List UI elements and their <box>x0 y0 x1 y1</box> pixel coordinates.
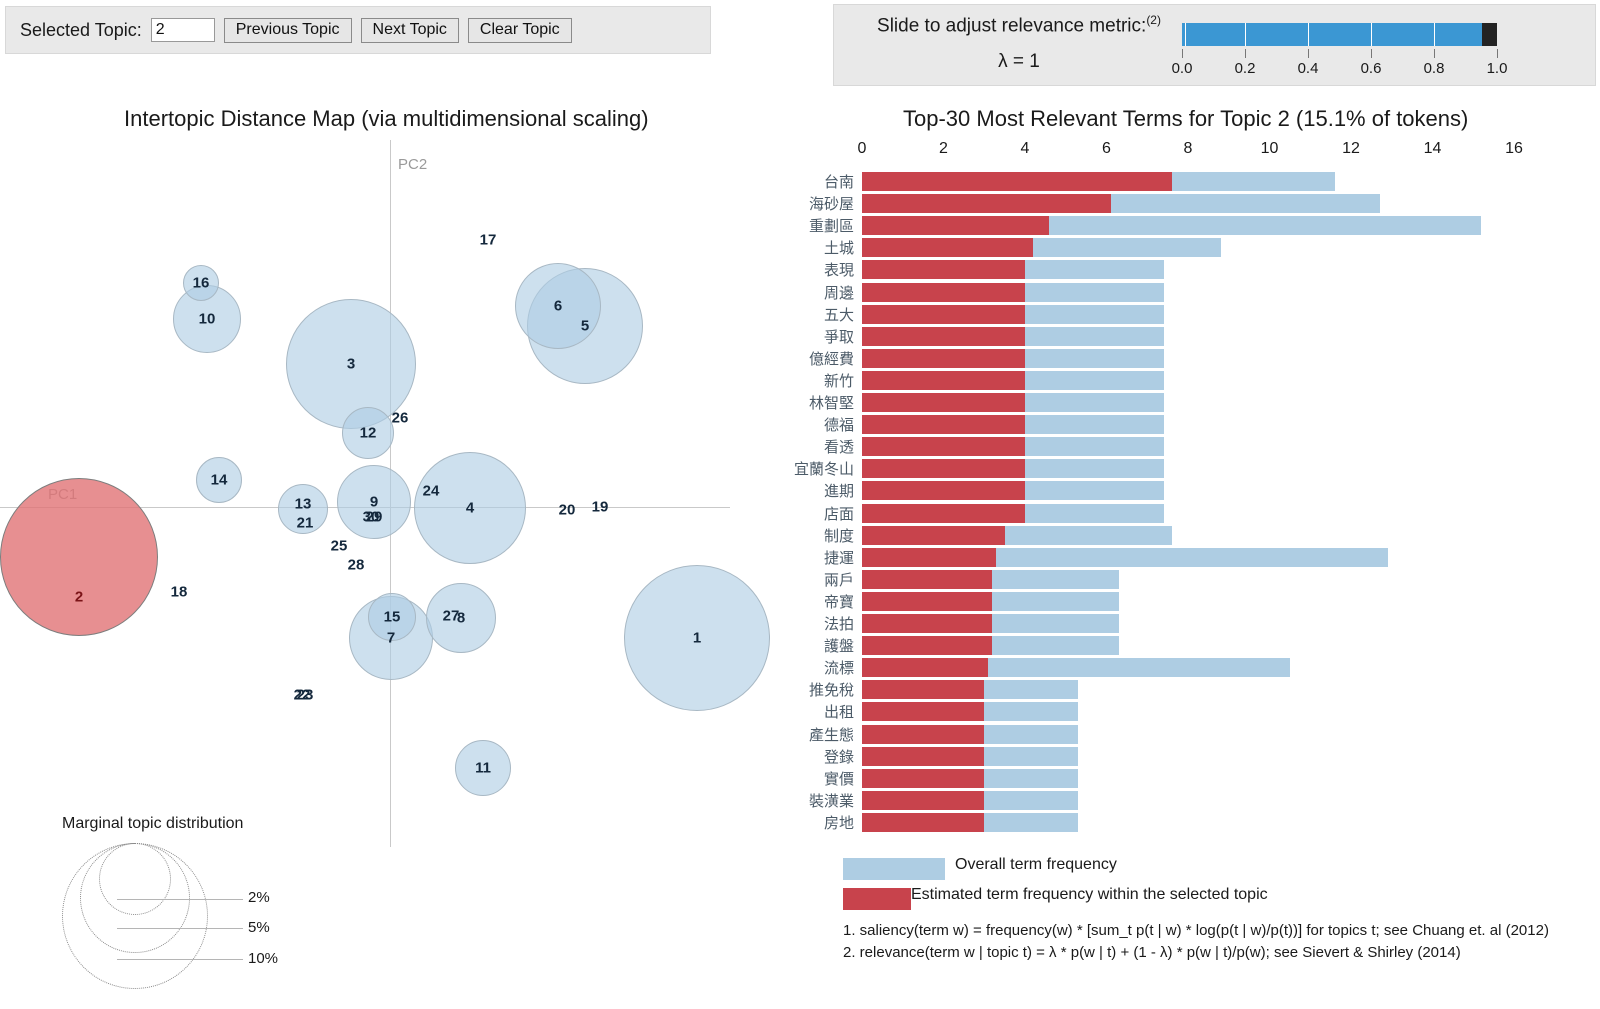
bar-row[interactable]: 表現 <box>780 259 1600 281</box>
bar-term-label[interactable]: 店面 <box>824 503 854 525</box>
slider-axis-tick-label: 0.2 <box>1235 60 1256 77</box>
bar-row[interactable]: 兩戶 <box>780 569 1600 591</box>
marginal-legend-title: Marginal topic distribution <box>62 815 243 833</box>
bar-row[interactable]: 重劃區 <box>780 215 1600 237</box>
bar-topic-frequency[interactable] <box>862 238 1033 257</box>
slider-axis-tick-label: 0.6 <box>1361 60 1382 77</box>
bar-row[interactable]: 出租 <box>780 701 1600 723</box>
topic-bubble-label-7[interactable]: 7 <box>387 630 395 647</box>
bar-term-label[interactable]: 進期 <box>824 480 854 502</box>
slider-axis-tick-label: 1.0 <box>1487 60 1508 77</box>
bar-row[interactable]: 海砂屋 <box>780 193 1600 215</box>
bar-topic-frequency[interactable] <box>862 305 1025 324</box>
bar-term-label[interactable]: 億經費 <box>809 348 854 370</box>
bar-x-tick-label: 2 <box>939 140 948 158</box>
marginal-circle-2pct <box>99 843 171 915</box>
legend-label-topic: Estimated term frequency within the sele… <box>911 886 1268 904</box>
bar-topic-frequency[interactable] <box>862 371 1025 390</box>
topic-bubble-label-10[interactable]: 10 <box>199 311 216 328</box>
bar-row[interactable]: 周邊 <box>780 282 1600 304</box>
bar-term-label[interactable]: 表現 <box>824 259 854 281</box>
bar-row[interactable]: 德福 <box>780 414 1600 436</box>
topic-bubble-label-26[interactable]: 26 <box>392 410 409 427</box>
slider-axis-tick-label: 0.4 <box>1298 60 1319 77</box>
intertopic-map-title: Intertopic Distance Map (via multidimens… <box>124 106 649 132</box>
topic-bubble-label-25[interactable]: 25 <box>331 538 348 555</box>
slider-caption-text: Slide to adjust relevance metric: <box>877 15 1146 36</box>
bar-row[interactable]: 林智堅 <box>780 392 1600 414</box>
topic-bubble-label-23[interactable]: 23 <box>297 687 314 704</box>
bar-row[interactable]: 法拍 <box>780 613 1600 635</box>
slider-axis-tick <box>1245 49 1246 58</box>
bar-term-label[interactable]: 法拍 <box>824 613 854 635</box>
topic-bubble-label-16[interactable]: 16 <box>193 275 210 292</box>
topic-bubble-label-4[interactable]: 4 <box>466 500 474 517</box>
slider-axis-tick <box>1308 49 1309 58</box>
slider-axis-tick-label: 0.8 <box>1424 60 1445 77</box>
bar-topic-frequency[interactable] <box>862 459 1025 478</box>
topic-bubble-label-18[interactable]: 18 <box>171 584 188 601</box>
marginal-leader-2pct <box>117 899 243 900</box>
bar-term-label[interactable]: 林智堅 <box>809 392 854 414</box>
topic-bubble-label-1[interactable]: 1 <box>693 630 701 647</box>
bar-x-tick-label: 10 <box>1261 140 1279 158</box>
topic-bubble-label-17[interactable]: 17 <box>480 232 497 249</box>
relevance-slider-bar: Slide to adjust relevance metric:(2) λ =… <box>833 4 1596 86</box>
bar-row[interactable]: 土城 <box>780 237 1600 259</box>
marginal-leader-5pct <box>117 928 243 929</box>
map-pc2-label: PC2 <box>398 156 427 173</box>
bar-topic-frequency[interactable] <box>862 725 984 744</box>
bar-term-label[interactable]: 出租 <box>824 701 854 723</box>
topic-bubble-label-30[interactable]: 30 <box>363 509 380 526</box>
bar-topic-frequency[interactable] <box>862 194 1111 213</box>
bar-topic-frequency[interactable] <box>862 415 1025 434</box>
previous-topic-button[interactable]: Previous Topic <box>224 18 352 43</box>
slider-caption-block: Slide to adjust relevance metric:(2) λ =… <box>844 13 1194 73</box>
bar-topic-frequency[interactable] <box>862 437 1025 456</box>
bar-term-label[interactable]: 流標 <box>824 657 854 679</box>
bar-term-label[interactable]: 裝潢業 <box>809 790 854 812</box>
slider-tick-divider <box>1371 23 1372 46</box>
slider-tick-divider <box>1245 23 1246 46</box>
topic-bubble-label-11[interactable]: 11 <box>475 760 491 777</box>
bar-topic-frequency[interactable] <box>862 327 1025 346</box>
bar-topic-frequency[interactable] <box>862 614 992 633</box>
marginal-leader-10pct <box>117 959 243 960</box>
slider-axis-tick <box>1182 49 1183 58</box>
bar-row[interactable]: 推免稅 <box>780 679 1600 701</box>
intertopic-distance-map[interactable]: PC1 PC2 12345678910111213141516171819202… <box>0 140 790 870</box>
next-topic-button[interactable]: Next Topic <box>361 18 459 43</box>
bar-term-label[interactable]: 海砂屋 <box>809 193 854 215</box>
topic-bubble-label-15[interactable]: 15 <box>384 609 401 626</box>
bar-topic-frequency[interactable] <box>862 791 984 810</box>
marginal-label-5pct: 5% <box>248 919 270 936</box>
bar-term-label[interactable]: 看透 <box>824 436 854 458</box>
marginal-topic-distribution-legend: Marginal topic distribution 2% 5% 10% <box>62 815 362 995</box>
bar-row[interactable]: 爭取 <box>780 326 1600 348</box>
bar-row[interactable]: 實價 <box>780 768 1600 790</box>
lambda-value-text: λ = 1 <box>844 51 1194 73</box>
bar-term-label[interactable]: 護盤 <box>824 635 854 657</box>
topic-bubble-label-20[interactable]: 20 <box>559 502 576 519</box>
bar-topic-frequency[interactable] <box>862 481 1025 500</box>
bar-topic-frequency[interactable] <box>862 283 1025 302</box>
bar-term-label[interactable]: 五大 <box>824 304 854 326</box>
topic-bubble-label-5[interactable]: 5 <box>581 318 589 335</box>
bar-term-label[interactable]: 周邊 <box>824 282 854 304</box>
bar-topic-frequency[interactable] <box>862 172 1172 191</box>
topic-bubble-label-19[interactable]: 19 <box>592 499 609 516</box>
bar-row[interactable]: 捷運 <box>780 547 1600 569</box>
selected-topic-input[interactable] <box>151 18 215 42</box>
legend-swatch-topic <box>843 888 911 910</box>
topic-bubble-label-3[interactable]: 3 <box>347 356 355 373</box>
topic-bubble-label-2[interactable]: 2 <box>75 589 83 606</box>
marginal-label-2pct: 2% <box>248 889 270 906</box>
bar-row[interactable]: 店面 <box>780 503 1600 525</box>
bar-row[interactable]: 登錄 <box>780 746 1600 768</box>
selected-topic-label: Selected Topic: <box>20 20 142 41</box>
topic-bubble-label-12[interactable]: 12 <box>360 425 377 442</box>
bar-term-label[interactable]: 推免稅 <box>809 679 854 701</box>
bar-topic-frequency[interactable] <box>862 216 1049 235</box>
bar-term-label[interactable]: 宜蘭冬山 <box>794 458 854 480</box>
slider-tick-divider <box>1434 23 1435 46</box>
slider-axis-tick <box>1497 49 1498 58</box>
slider-caption: Slide to adjust relevance metric:(2) <box>844 13 1194 37</box>
top-terms-title: Top-30 Most Relevant Terms for Topic 2 (… <box>903 106 1468 132</box>
bar-topic-frequency[interactable] <box>862 526 1005 545</box>
bar-row[interactable]: 台南 <box>780 171 1600 193</box>
bar-row[interactable]: 看透 <box>780 436 1600 458</box>
topic-control-bar: Selected Topic: Previous Topic Next Topi… <box>5 6 711 54</box>
bar-x-tick-label: 6 <box>1102 140 1111 158</box>
bar-term-label[interactable]: 台南 <box>824 171 854 193</box>
marginal-label-10pct: 10% <box>248 950 278 967</box>
bar-topic-frequency[interactable] <box>862 702 984 721</box>
bar-term-label[interactable]: 土城 <box>824 237 854 259</box>
clear-topic-button[interactable]: Clear Topic <box>468 18 572 43</box>
bar-term-label[interactable]: 兩戶 <box>824 569 854 591</box>
bar-topic-frequency[interactable] <box>862 636 992 655</box>
bar-term-label[interactable]: 制度 <box>824 525 854 547</box>
topic-bubble-label-28[interactable]: 28 <box>348 557 365 574</box>
bar-row[interactable]: 制度 <box>780 525 1600 547</box>
bar-row[interactable]: 護盤 <box>780 635 1600 657</box>
bar-term-label[interactable]: 爭取 <box>824 326 854 348</box>
topic-bubble-label-6[interactable]: 6 <box>554 298 562 315</box>
bar-x-tick-label: 14 <box>1424 140 1442 158</box>
slider-axis-tick <box>1371 49 1372 58</box>
relevance-slider-axis: 0.00.20.40.60.81.0 <box>1182 49 1497 81</box>
bar-row[interactable]: 宜蘭冬山 <box>780 458 1600 480</box>
relevance-slider-handle[interactable] <box>1482 23 1497 46</box>
bar-topic-frequency[interactable] <box>862 570 992 589</box>
slider-caption-footnote-marker: (2) <box>1146 13 1161 27</box>
bar-chart-x-axis: 0246810121416 <box>780 140 1600 164</box>
bar-term-label[interactable]: 帝寶 <box>824 591 854 613</box>
bar-topic-frequency[interactable] <box>862 393 1025 412</box>
bar-row[interactable]: 裝潢業 <box>780 790 1600 812</box>
bar-topic-frequency[interactable] <box>862 680 984 699</box>
bar-term-label[interactable]: 登錄 <box>824 746 854 768</box>
bar-chart-legend: Overall term frequency Estimated term fr… <box>843 852 1583 1002</box>
topic-bubble-label-21[interactable]: 21 <box>297 515 314 532</box>
topic-bubble-label-13[interactable]: 13 <box>295 496 312 513</box>
bar-row[interactable]: 房地 <box>780 812 1600 834</box>
bar-topic-frequency[interactable] <box>862 504 1025 523</box>
bar-row[interactable]: 新竹 <box>780 370 1600 392</box>
footnote-relevance: 2. relevance(term w | topic t) = λ * p(w… <box>843 944 1461 961</box>
bar-term-label[interactable]: 新竹 <box>824 370 854 392</box>
bar-topic-frequency[interactable] <box>862 592 992 611</box>
slider-axis-tick-label: 0.0 <box>1172 60 1193 77</box>
topic-bubble-label-24[interactable]: 24 <box>423 483 440 500</box>
legend-label-overall: Overall term frequency <box>955 856 1117 874</box>
pyldavis-page: Selected Topic: Previous Topic Next Topi… <box>0 0 1600 1009</box>
top-terms-bar-chart[interactable]: 0246810121416 台南海砂屋重劃區土城表現周邊五大爭取億經費新竹林智堅… <box>780 140 1600 840</box>
footnote-saliency: 1. saliency(term w) = frequency(w) * [su… <box>843 922 1549 939</box>
legend-swatch-overall <box>843 858 945 880</box>
topic-bubble-label-14[interactable]: 14 <box>211 472 228 489</box>
bar-row[interactable]: 億經費 <box>780 348 1600 370</box>
bar-row[interactable]: 進期 <box>780 480 1600 502</box>
bar-row[interactable]: 產生態 <box>780 724 1600 746</box>
topic-bubble-2[interactable] <box>0 478 158 636</box>
bar-term-label[interactable]: 實價 <box>824 768 854 790</box>
bar-x-tick-label: 4 <box>1021 140 1030 158</box>
bar-row[interactable]: 流標 <box>780 657 1600 679</box>
bar-x-tick-label: 0 <box>858 140 867 158</box>
bar-topic-frequency[interactable] <box>862 548 996 567</box>
bar-term-label[interactable]: 房地 <box>824 812 854 834</box>
slider-tick-divider <box>1308 23 1309 46</box>
topic-bubble-label-27[interactable]: 27 <box>443 608 460 625</box>
bar-x-tick-label: 12 <box>1342 140 1360 158</box>
bar-row[interactable]: 五大 <box>780 304 1600 326</box>
relevance-slider-track[interactable] <box>1182 23 1497 46</box>
bar-term-label[interactable]: 德福 <box>824 414 854 436</box>
bar-topic-frequency[interactable] <box>862 349 1025 368</box>
bar-topic-frequency[interactable] <box>862 769 984 788</box>
bar-topic-frequency[interactable] <box>862 747 984 766</box>
bar-x-tick-label: 16 <box>1505 140 1523 158</box>
bar-x-tick-label: 8 <box>1184 140 1193 158</box>
slider-origin-marker <box>1185 23 1186 46</box>
slider-axis-tick <box>1434 49 1435 58</box>
bar-topic-frequency[interactable] <box>862 813 984 832</box>
bar-topic-frequency[interactable] <box>862 260 1025 279</box>
bar-row[interactable]: 帝寶 <box>780 591 1600 613</box>
bar-topic-frequency[interactable] <box>862 658 988 677</box>
bar-term-label[interactable]: 捷運 <box>824 547 854 569</box>
bar-term-label[interactable]: 重劃區 <box>809 215 854 237</box>
bar-term-label[interactable]: 產生態 <box>809 724 854 746</box>
